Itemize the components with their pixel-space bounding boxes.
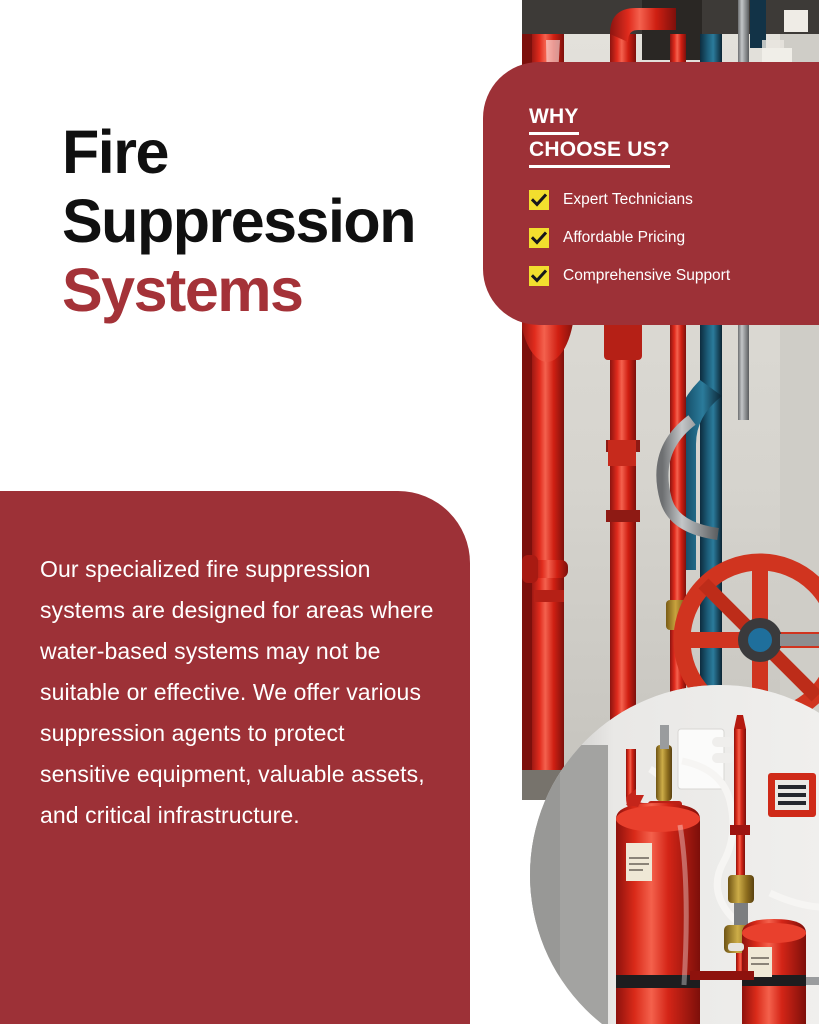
list-item: Affordable Pricing [529, 228, 819, 248]
list-item: Expert Technicians [529, 190, 819, 210]
title-line-1: Fire [62, 118, 168, 186]
cylinders-photo [530, 685, 819, 1024]
why-heading-line2: CHOOSE US? [529, 135, 670, 168]
title-line-2: Suppression [62, 187, 415, 255]
benefit-label: Comprehensive Support [563, 267, 730, 285]
check-icon [529, 266, 549, 286]
description-panel: Our specialized fire suppression systems… [0, 491, 470, 1024]
title-line-3: Systems [62, 256, 302, 324]
why-choose-us-heading: WHY CHOOSE US? [529, 102, 819, 168]
why-choose-us-card: WHY CHOOSE US? Expert Technicians Afford… [483, 62, 819, 325]
benefit-label: Expert Technicians [563, 191, 693, 209]
poster-page: WHY CHOOSE US? Expert Technicians Afford… [0, 0, 819, 1024]
list-item: Comprehensive Support [529, 266, 819, 286]
page-title: Fire Suppression Systems [62, 118, 482, 325]
description-text: Our specialized fire suppression systems… [40, 549, 440, 836]
cylinders-photo-art [530, 685, 819, 1024]
check-icon [529, 190, 549, 210]
check-icon [529, 228, 549, 248]
why-heading-line1: WHY [529, 102, 579, 135]
why-choose-us-list: Expert Technicians Affordable Pricing Co… [529, 190, 819, 286]
benefit-label: Affordable Pricing [563, 229, 685, 247]
